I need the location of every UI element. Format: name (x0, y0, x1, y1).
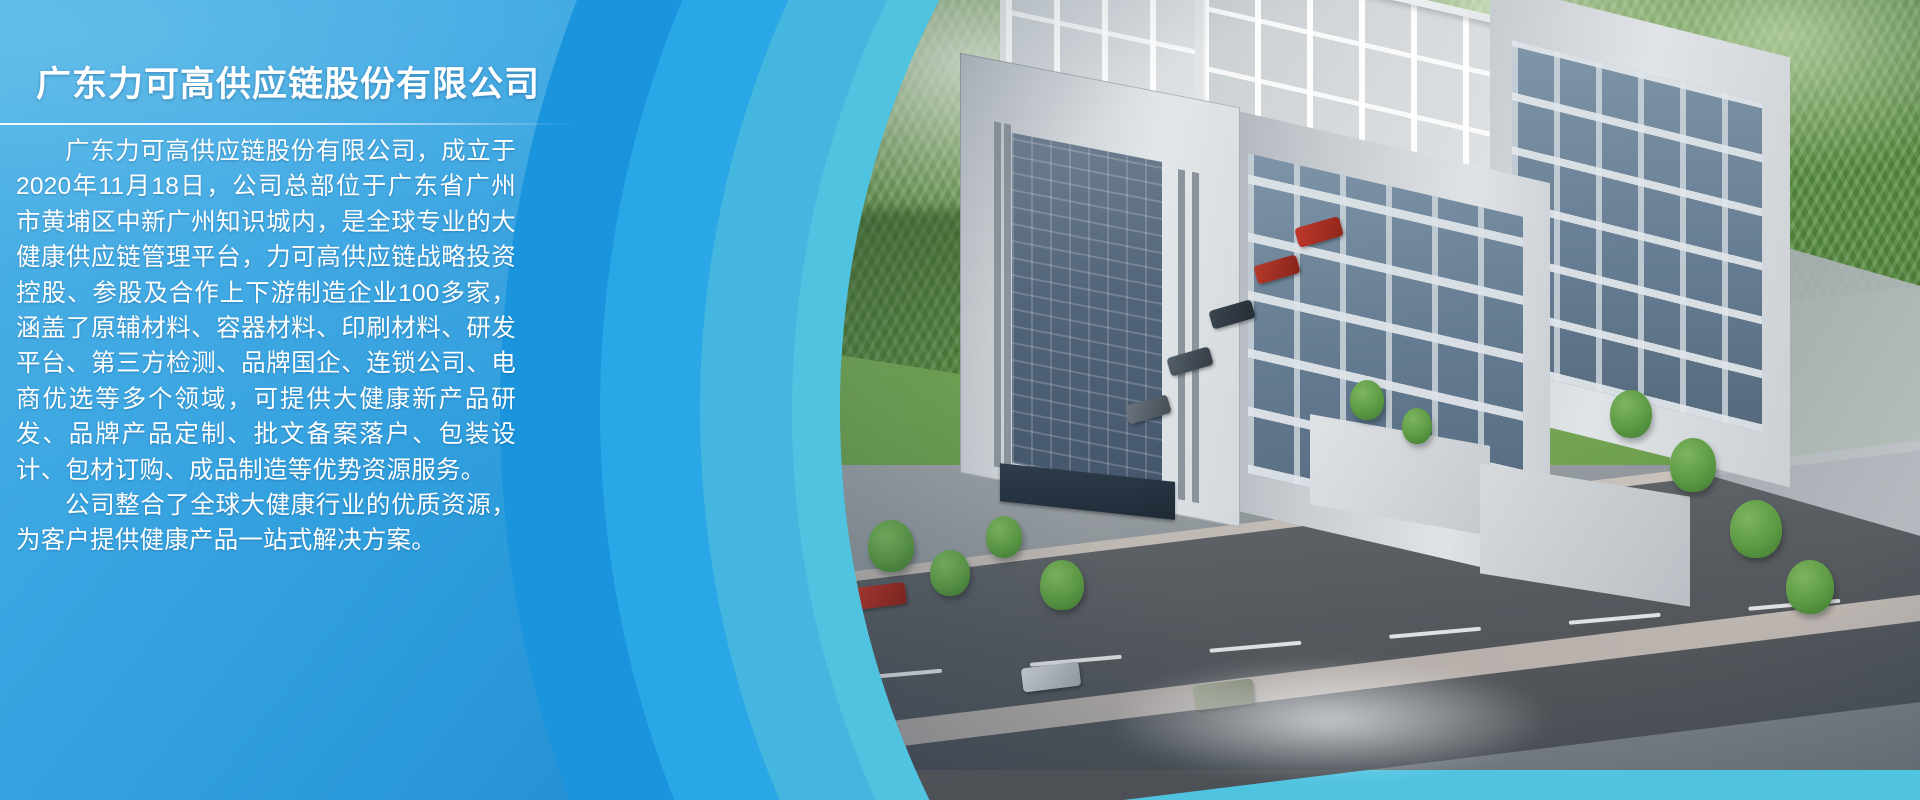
company-profile-banner: 广东力可高供应链股份有限公司 广东力可高供应链股份有限公司，成立于2020年11… (0, 0, 1920, 800)
photo-vignette (840, 0, 1920, 770)
company-title: 广东力可高供应链股份有限公司 (36, 56, 556, 107)
description-paragraph-1: 广东力可高供应链股份有限公司，成立于2020年11月18日，公司总部位于广东省广… (16, 134, 516, 488)
description-paragraph-2: 公司整合了全球大健康行业的优质资源，为客户提供健康产品一站式解决方案。 (16, 488, 516, 559)
title-divider (0, 123, 575, 125)
company-description: 广东力可高供应链股份有限公司，成立于2020年11月18日，公司总部位于广东省广… (16, 134, 516, 559)
campus-photo (840, 0, 1920, 770)
campus-photo-disc (840, 0, 1920, 800)
text-column: 广东力可高供应链股份有限公司 广东力可高供应链股份有限公司，成立于2020年11… (0, 0, 600, 800)
